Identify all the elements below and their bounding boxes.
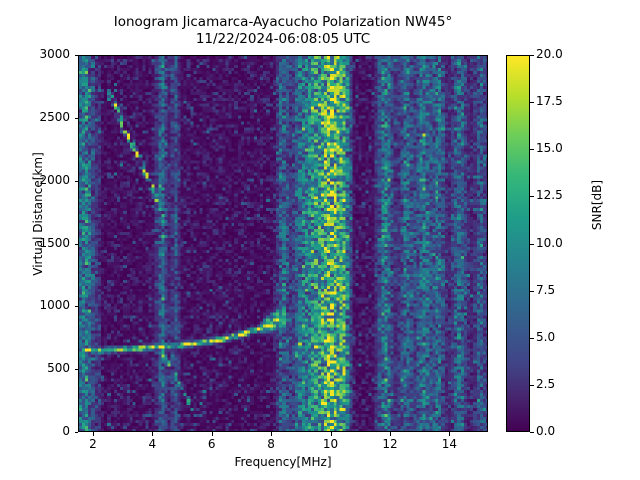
colorbar-tick-label: 7.5 [536,283,555,297]
heatmap-axes[interactable] [78,55,488,432]
x-tick-mark [271,432,272,436]
colorbar-tick-mark [530,244,534,245]
y-axis-label: Virtual Distance[km] [31,104,45,324]
colorbar-tick-label: 2.5 [536,377,555,391]
x-tick-mark [331,432,332,436]
x-tick-mark [212,432,213,436]
x-tick-label: 4 [132,437,172,451]
chart-title: Ionogram Jicamarca-Ayacucho Polarization… [78,14,488,48]
y-tick-label: 500 [6,361,70,375]
y-tick-mark [75,244,79,245]
colorbar-tick-label: 10.0 [536,236,563,250]
y-tick-label: 3000 [6,47,70,61]
y-tick-mark [75,55,79,56]
x-axis-label: Frequency[MHz] [78,455,488,469]
colorbar-tick-mark [530,291,534,292]
colorbar-tick-label: 20.0 [536,47,563,61]
x-tick-label: 10 [311,437,351,451]
colorbar-tick-mark [530,432,534,433]
colorbar-tick-mark [530,196,534,197]
y-tick-mark [75,181,79,182]
x-tick-mark [93,432,94,436]
x-tick-label: 12 [370,437,410,451]
ionogram-figure: Ionogram Jicamarca-Ayacucho Polarization… [0,0,640,480]
x-tick-label: 14 [429,437,469,451]
colorbar-tick-mark [530,338,534,339]
x-tick-label: 8 [251,437,291,451]
colorbar-tick-label: 0.0 [536,424,555,438]
y-tick-label: 0 [6,424,70,438]
colorbar-tick-label: 17.5 [536,94,563,108]
colorbar-label: SNR[dB] [590,115,604,295]
y-tick-mark [75,306,79,307]
colorbar-tick-mark [530,102,534,103]
x-tick-mark [390,432,391,436]
x-tick-mark [449,432,450,436]
chart-title-line1: Ionogram Jicamarca-Ayacucho Polarization… [114,14,452,30]
y-tick-mark [75,118,79,119]
y-tick-mark [75,432,79,433]
colorbar-tick-label: 12.5 [536,188,563,202]
colorbar-tick-label: 5.0 [536,330,555,344]
y-tick-mark [75,369,79,370]
chart-title-line2: 11/22/2024-06:08:05 UTC [196,31,370,47]
x-tick-label: 6 [192,437,232,451]
colorbar-tick-label: 15.0 [536,141,563,155]
ionogram-heatmap-canvas [79,56,487,431]
colorbar[interactable] [506,55,530,432]
colorbar-tick-mark [530,149,534,150]
x-tick-label: 2 [73,437,113,451]
colorbar-tick-mark [530,55,534,56]
x-tick-mark [152,432,153,436]
colorbar-tick-mark [530,385,534,386]
